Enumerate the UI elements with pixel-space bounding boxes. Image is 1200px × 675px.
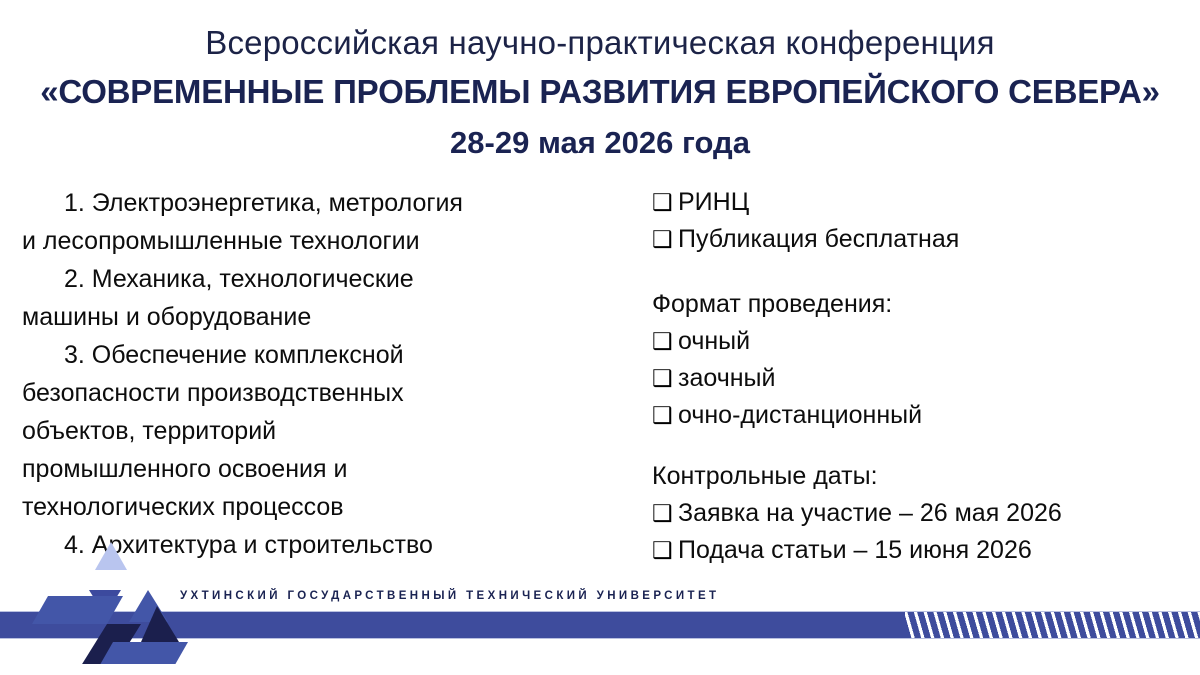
university-name: УХТИНСКИЙ ГОСУДАРСТВЕННЫЙ ТЕХНИЧЕСКИЙ УН… bbox=[180, 590, 719, 602]
checkbox-label: очный bbox=[678, 323, 750, 360]
checkbox-item-format-hybrid[interactable]: ❑ очно-дистанционный bbox=[652, 397, 1192, 434]
checkbox-icon[interactable]: ❑ bbox=[652, 184, 678, 221]
checkbox-item-deadline-application[interactable]: ❑ Заявка на участие – 26 мая 2026 bbox=[652, 495, 1192, 532]
checkbox-icon[interactable]: ❑ bbox=[652, 360, 678, 397]
checkbox-item-rinc[interactable]: ❑ РИНЦ bbox=[652, 184, 1192, 221]
checkbox-label: Публикация бесплатная bbox=[678, 221, 959, 258]
footer-zigzag-pattern bbox=[905, 612, 1200, 638]
checkbox-label: очно-дистанционный bbox=[678, 397, 922, 434]
deadlines-heading: Контрольные даты: bbox=[652, 458, 1192, 495]
checkbox-item-format-onsite[interactable]: ❑ очный bbox=[652, 323, 1192, 360]
slide-root: Всероссийская научно-практическая конфер… bbox=[0, 0, 1200, 675]
conference-name-line: «СОВРЕМЕННЫЕ ПРОБЛЕМЫ РАЗВИТИЯ ЕВРОПЕЙСК… bbox=[0, 70, 1200, 114]
logo-light-triangle-icon bbox=[95, 542, 127, 570]
info-column: ❑ РИНЦ ❑ Публикация бесплатная Формат пр… bbox=[652, 184, 1192, 569]
checkbox-label: Подача статьи – 15 июня 2026 bbox=[678, 532, 1032, 569]
checkbox-label: заочный bbox=[678, 360, 776, 397]
checkbox-icon[interactable]: ❑ bbox=[652, 397, 678, 434]
topic-item: 3. Обеспечение комплексной безопасности … bbox=[22, 336, 622, 526]
topic-item: 1. Электроэнергетика, метрология и лесоп… bbox=[22, 184, 622, 260]
checkbox-icon[interactable]: ❑ bbox=[652, 532, 678, 569]
spacer bbox=[652, 258, 1192, 286]
topic-item: 2. Механика, технологические машины и об… bbox=[22, 260, 622, 336]
format-heading: Формат проведения: bbox=[652, 286, 1192, 323]
logo-upper-bar bbox=[32, 596, 123, 624]
ugtu-logo-graphic bbox=[28, 534, 223, 664]
checkbox-item-format-remote[interactable]: ❑ заочный bbox=[652, 360, 1192, 397]
checkbox-icon[interactable]: ❑ bbox=[652, 221, 678, 258]
checkbox-item-free-publication[interactable]: ❑ Публикация бесплатная bbox=[652, 221, 1192, 258]
ugtu-logo bbox=[28, 534, 223, 664]
topics-list: 1. Электроэнергетика, метрология и лесоп… bbox=[22, 184, 622, 564]
checkbox-item-deadline-paper[interactable]: ❑ Подача статьи – 15 июня 2026 bbox=[652, 532, 1192, 569]
checkbox-icon[interactable]: ❑ bbox=[652, 495, 678, 532]
checkbox-label: РИНЦ bbox=[678, 184, 749, 221]
checkbox-icon[interactable]: ❑ bbox=[652, 323, 678, 360]
title-block: Всероссийская научно-практическая конфер… bbox=[0, 22, 1200, 164]
spacer bbox=[652, 434, 1192, 458]
checkbox-label: Заявка на участие – 26 мая 2026 bbox=[678, 495, 1062, 532]
conference-date-line: 28-29 мая 2026 года bbox=[0, 122, 1200, 164]
conference-type-line: Всероссийская научно-практическая конфер… bbox=[0, 22, 1200, 64]
